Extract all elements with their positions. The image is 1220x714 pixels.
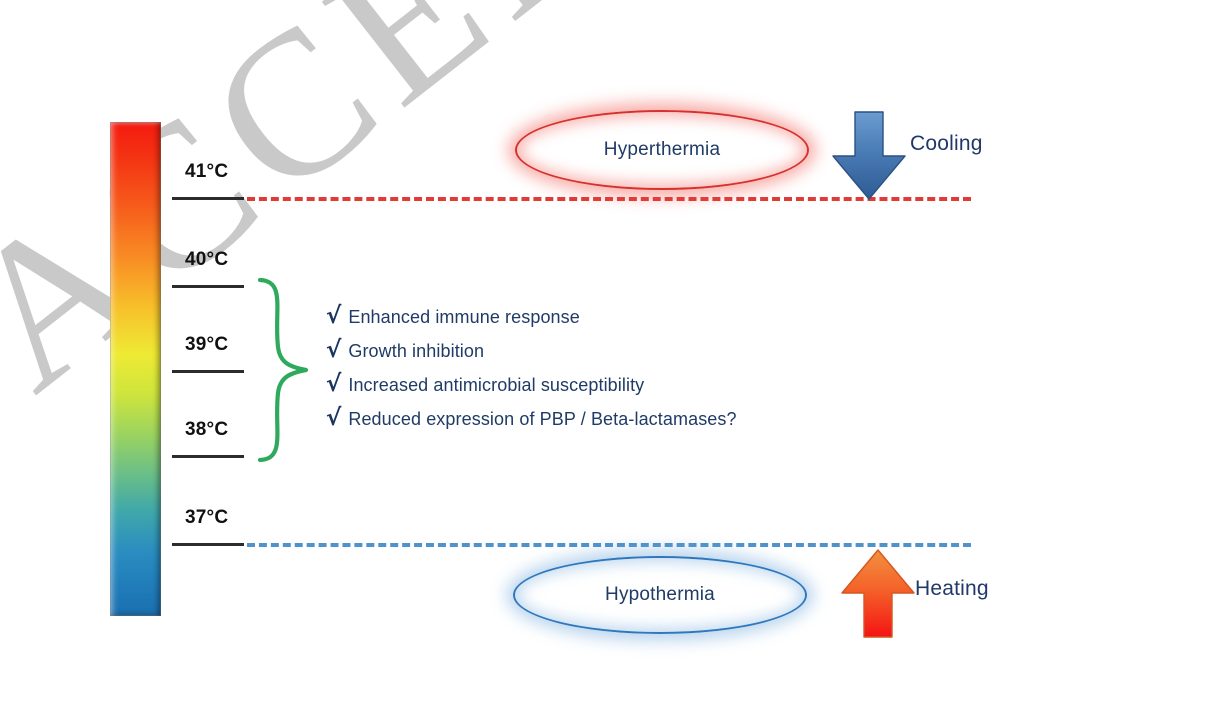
down-arrow-icon (829, 110, 909, 202)
tick-label-40: 40°C (185, 249, 228, 271)
list-item-label: Growth inhibition (348, 341, 484, 362)
list-item-label: Reduced expression of PBP / Beta-lactama… (348, 409, 736, 430)
heating-label: Heating (915, 577, 989, 601)
hypothermia-label: Hypothermia (605, 584, 715, 606)
tick-line-39 (172, 370, 244, 373)
tick-label-39: 39°C (185, 334, 228, 356)
tick-line-41 (172, 197, 244, 200)
tick-line-37 (172, 543, 244, 546)
hypothermia-threshold-line (247, 543, 971, 547)
up-arrow-icon (838, 548, 918, 640)
check-icon: √ (326, 305, 341, 328)
check-icon: √ (326, 339, 341, 362)
effects-list: √ Enhanced immune response √ Growth inhi… (326, 305, 886, 441)
figure-canvas: ACCEPTED MA 41°C 40°C 39°C 38°C 37°C √ E… (0, 0, 1220, 714)
check-icon: √ (326, 373, 341, 396)
list-item: √ Enhanced immune response (326, 305, 886, 328)
cooling-label: Cooling (910, 132, 983, 156)
tick-label-38: 38°C (185, 419, 228, 441)
list-item: √ Reduced expression of PBP / Beta-lacta… (326, 407, 886, 430)
tick-line-40 (172, 285, 244, 288)
list-item-label: Increased antimicrobial susceptibility (348, 375, 644, 396)
tick-label-37: 37°C (185, 507, 228, 529)
list-item-label: Enhanced immune response (348, 307, 580, 328)
tick-line-38 (172, 455, 244, 458)
tick-label-41: 41°C (185, 161, 228, 183)
temperature-gradient-bar (110, 122, 161, 616)
list-item: √ Increased antimicrobial susceptibility (326, 373, 886, 396)
check-icon: √ (326, 407, 341, 430)
range-brace-icon (252, 275, 314, 465)
list-item: √ Growth inhibition (326, 339, 886, 362)
hyperthermia-label: Hyperthermia (604, 139, 720, 161)
hypothermia-callout: Hypothermia (513, 556, 807, 634)
hyperthermia-callout: Hyperthermia (515, 110, 809, 190)
